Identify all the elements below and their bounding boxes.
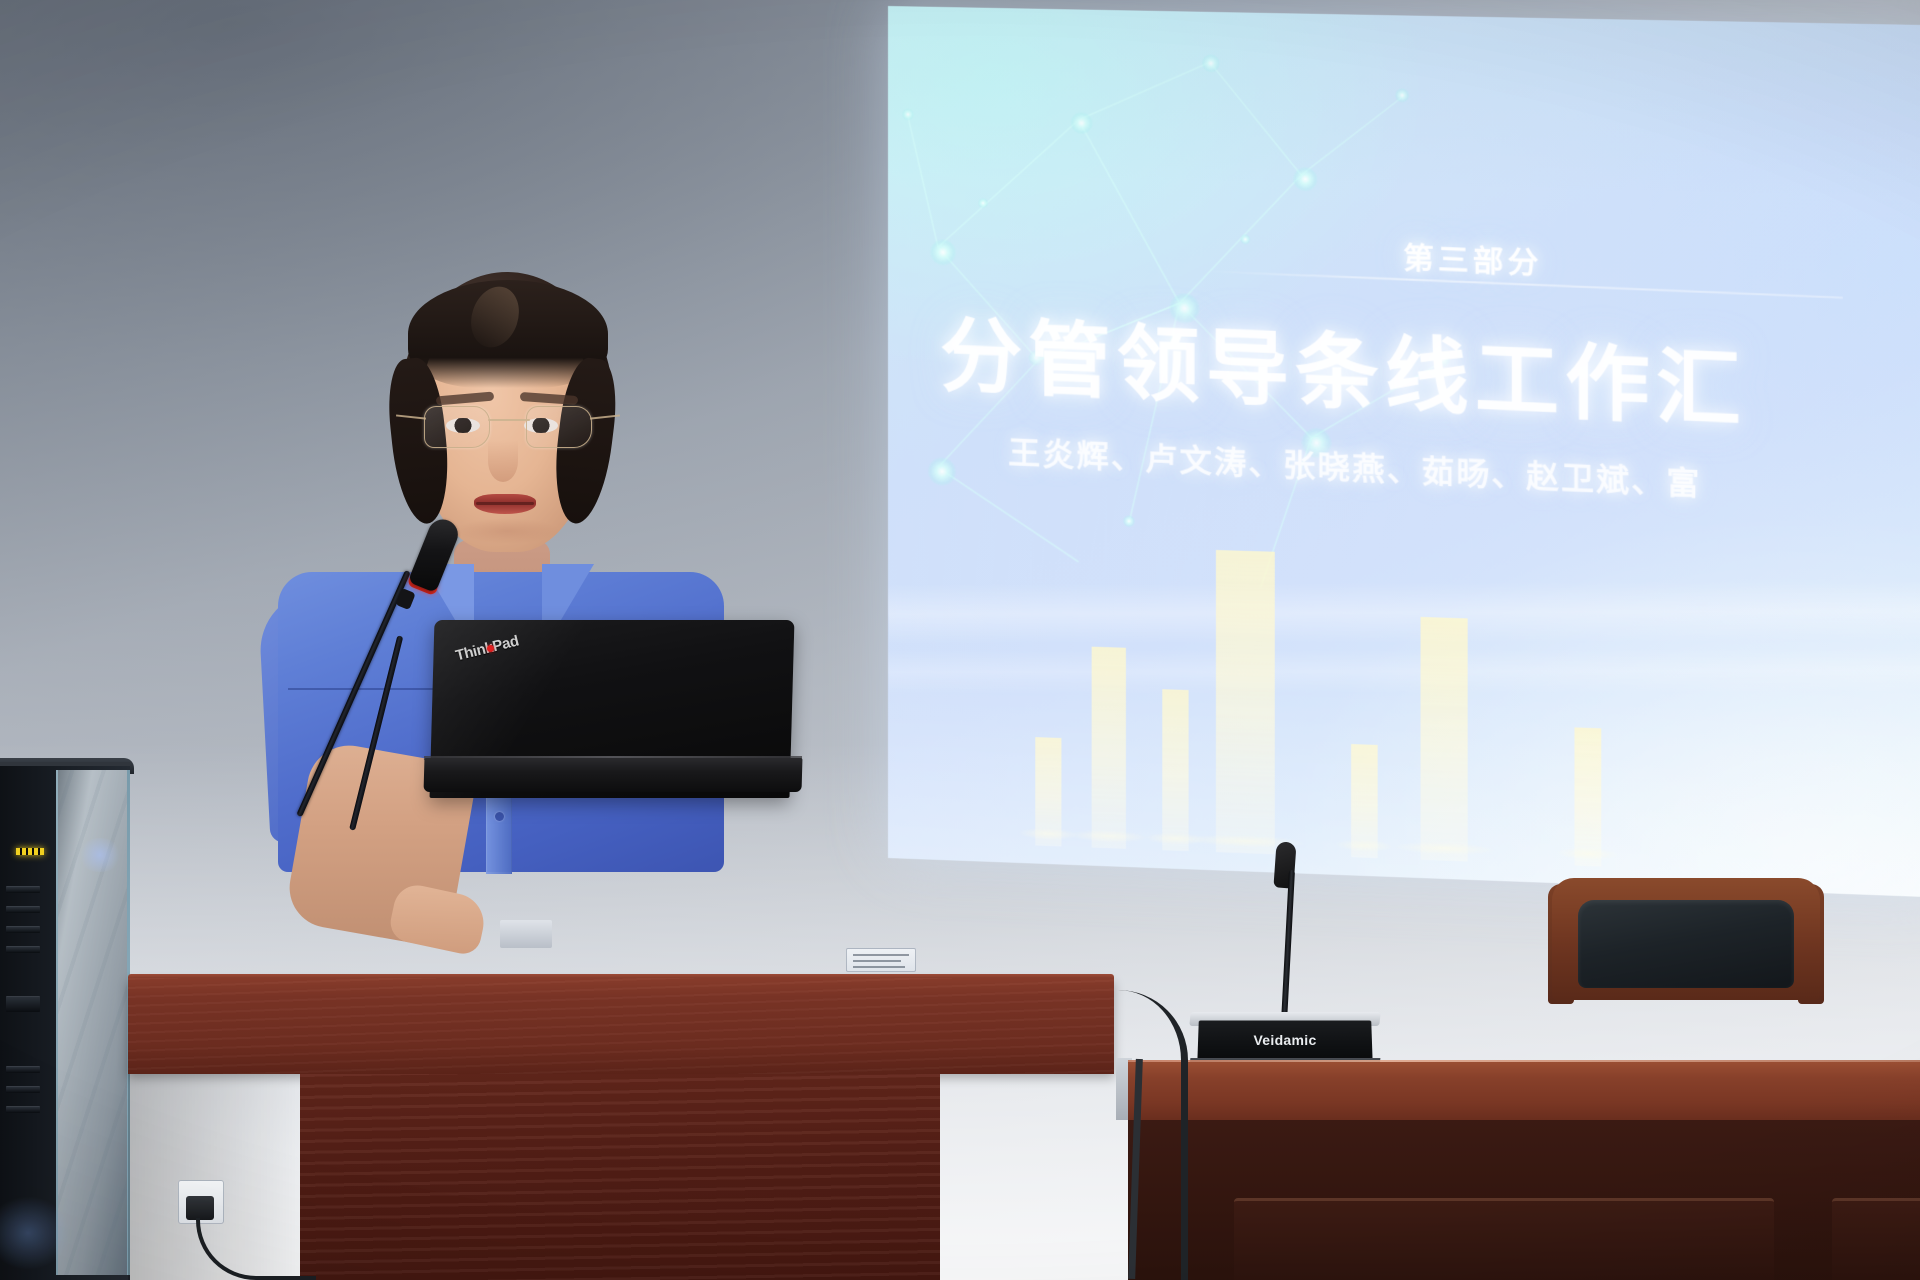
rack-led-indicators — [16, 848, 44, 855]
glasses-lens-left — [424, 406, 490, 448]
rack-floor-glow — [0, 1196, 70, 1270]
rack-slot — [6, 946, 40, 953]
power-plug — [186, 1196, 214, 1220]
desk-microphone-brand-label: Veidamic — [1198, 1032, 1372, 1048]
rack-slot — [6, 1086, 40, 1093]
nose — [488, 440, 518, 482]
podium-label-sticker — [846, 948, 916, 972]
chin-shadow — [454, 518, 560, 544]
shirt-button — [495, 812, 504, 821]
podium-top — [128, 978, 1114, 1074]
side-device — [500, 920, 552, 948]
desk-cable — [1128, 1059, 1206, 1280]
rack-slot — [6, 926, 40, 933]
presentation-scene: 第三部分 分管领导条线工作汇 王炎辉、卢文涛、张晓燕、茹旸、赵卫斌、富 — [0, 0, 1920, 1280]
mouth-line — [476, 502, 534, 505]
projection-screen: 第三部分 分管领导条线工作汇 王炎辉、卢文涛、张晓燕、茹旸、赵卫斌、富 — [888, 6, 1920, 898]
desk-front-panel — [1832, 1198, 1920, 1280]
screen-vignette — [888, 6, 1920, 898]
desk-front-panel — [1234, 1198, 1774, 1280]
glasses-lens-right — [526, 406, 592, 448]
rack-unit — [6, 996, 40, 1012]
rack-slot — [6, 906, 40, 913]
laptop-base[interactable] — [424, 758, 803, 792]
podium-body — [300, 1074, 940, 1280]
glasses-bridge — [488, 419, 530, 421]
executive-chair[interactable] — [1552, 878, 1820, 1000]
rack-slot — [6, 1066, 40, 1073]
thinkpad-red-dot-icon — [487, 645, 494, 652]
conference-desk-top — [1128, 1062, 1920, 1120]
rack-slot — [6, 1106, 40, 1113]
rack-slot — [6, 886, 40, 893]
rack-status-glow — [78, 838, 122, 872]
chair-backrest-pad — [1578, 900, 1794, 988]
